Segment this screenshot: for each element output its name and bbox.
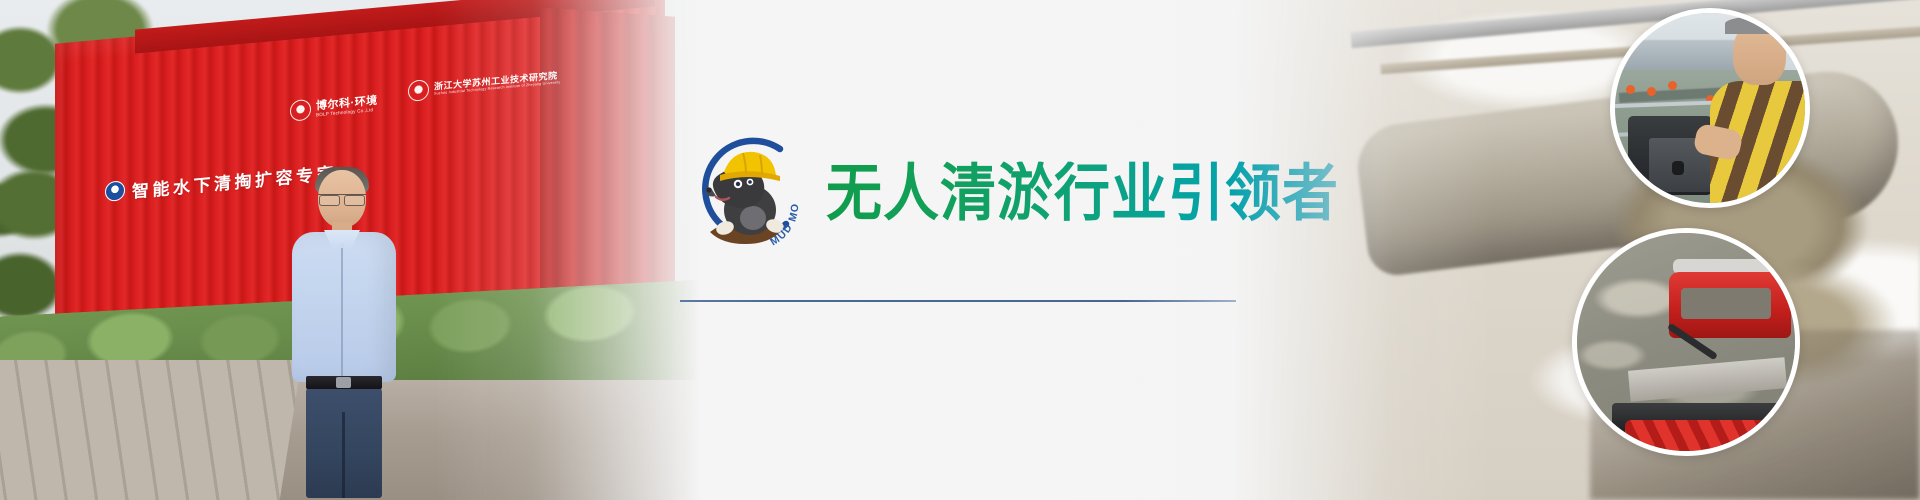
hero-banner: 博尔科·环境 BOLP Technology Co.,Ltd 浙江大学苏州工业技… xyxy=(0,0,1920,500)
operator-cap xyxy=(1725,17,1790,34)
person-shirt-placket xyxy=(341,248,343,378)
person-glasses xyxy=(318,194,366,203)
person-trousers xyxy=(306,386,382,498)
photo-operator-controller xyxy=(1610,8,1810,208)
left-photo: 博尔科·环境 BOLP Technology Co.,Ltd 浙江大学苏州工业技… xyxy=(0,0,700,500)
mole-in-hardhat-icon: MUD MOLE xyxy=(680,128,810,258)
person-shirt xyxy=(292,232,396,382)
paving-tiles xyxy=(0,360,302,500)
right-photo-collage xyxy=(1230,0,1920,500)
person-belt-buckle xyxy=(336,377,351,388)
robot-auger xyxy=(1625,420,1791,455)
slogan-badge-icon xyxy=(105,180,125,202)
container-logo-primary: 博尔科·环境 BOLP Technology Co.,Ltd xyxy=(290,93,378,122)
section-divider xyxy=(680,300,1236,302)
photo-dredging-robot xyxy=(1572,228,1800,456)
controller-joystick xyxy=(1672,161,1684,175)
person-standing xyxy=(284,170,414,500)
robot-body xyxy=(1669,272,1791,337)
operator-photo-plant xyxy=(1615,40,1752,74)
bolp-mark-icon xyxy=(290,99,311,122)
mud-mole-logo: MUD MOLE xyxy=(680,128,810,258)
center-content: MUD MOLE 无人清淤行业引领者 xyxy=(660,0,1260,500)
zju-mark-icon xyxy=(408,79,429,102)
